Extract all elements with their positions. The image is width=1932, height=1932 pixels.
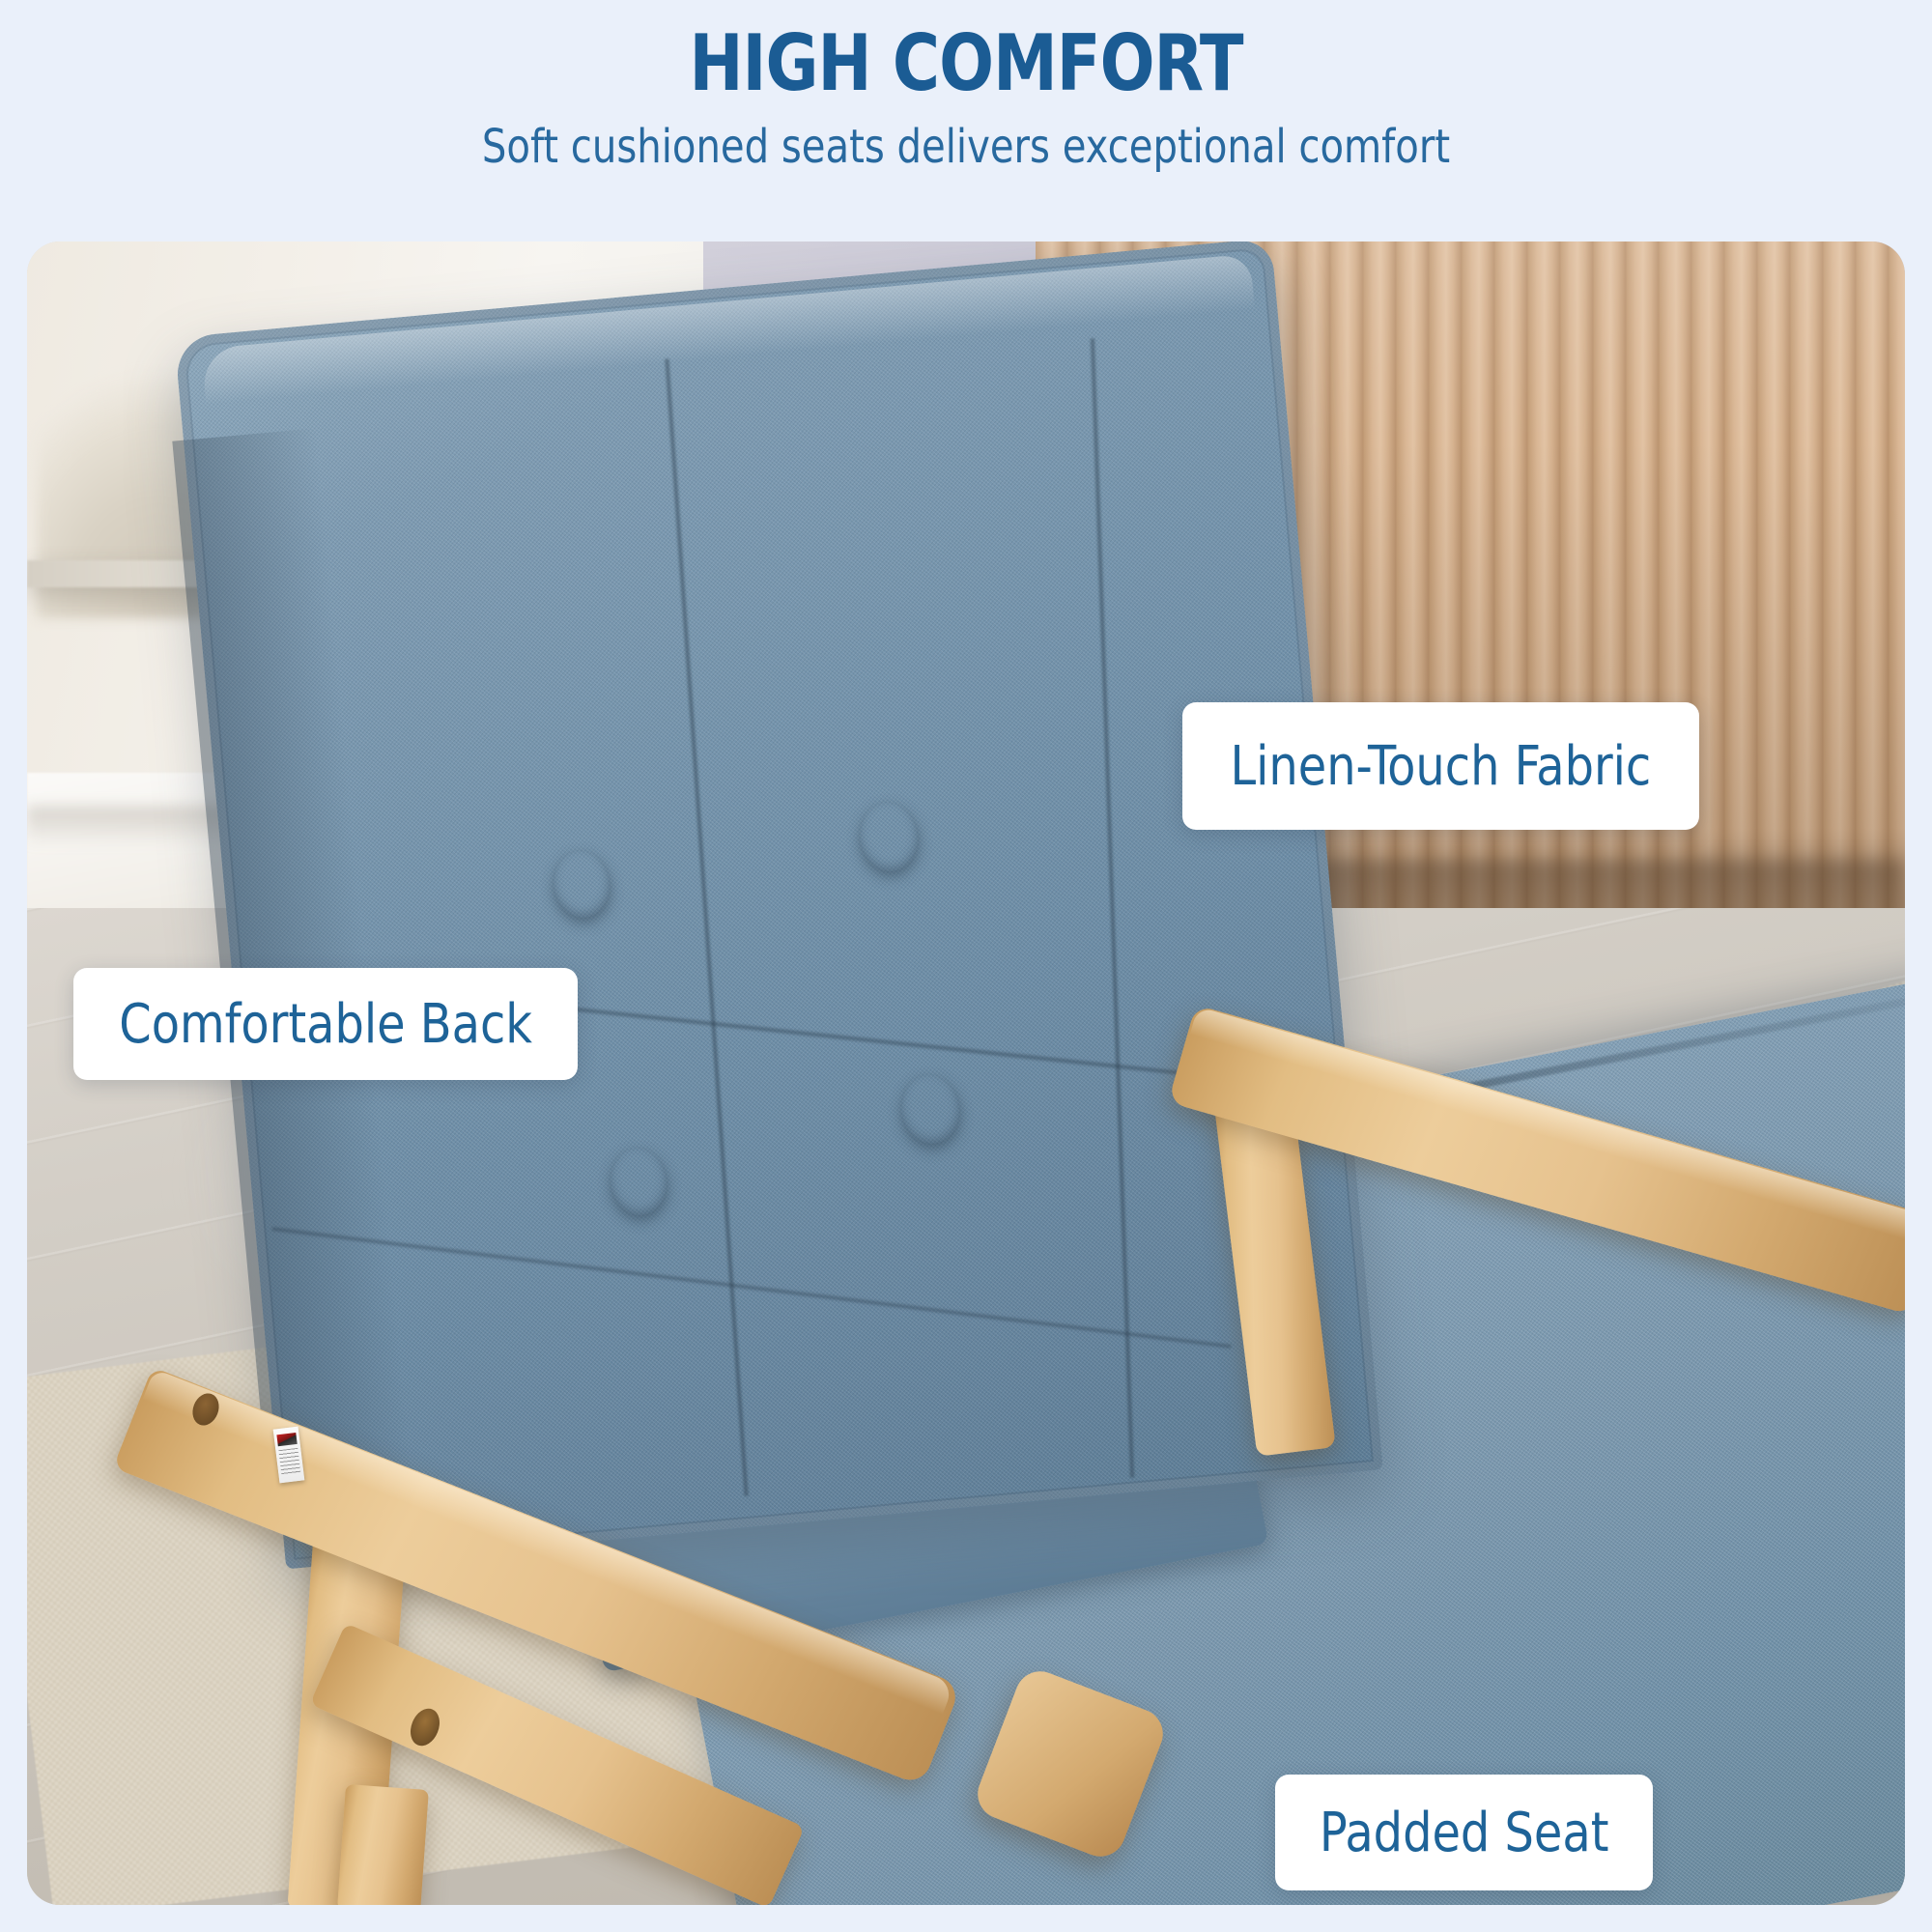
brand-logo-mark xyxy=(276,1433,297,1446)
backrest-piping xyxy=(174,241,1382,1569)
page-title: HIGH COMFORT xyxy=(68,25,1864,102)
callout-label: Linen-Touch Fabric xyxy=(1230,735,1651,798)
callout-comfortable-back[interactable]: Comfortable Back xyxy=(73,968,578,1080)
callout-padded-seat[interactable]: Padded Seat xyxy=(1275,1775,1653,1890)
callout-label: Padded Seat xyxy=(1320,1802,1609,1864)
callout-label: Comfortable Back xyxy=(119,993,532,1056)
header-banner: HIGH COMFORT Soft cushioned seats delive… xyxy=(0,0,1932,241)
chair-leg-lower xyxy=(337,1784,429,1905)
brand-tag-text-lines xyxy=(278,1448,300,1475)
page-subtitle: Soft cushioned seats delivers exceptiona… xyxy=(68,124,1864,170)
product-photo: Linen-Touch Fabric Comfortable Back Padd… xyxy=(27,241,1905,1905)
callout-linen-touch-fabric[interactable]: Linen-Touch Fabric xyxy=(1182,702,1699,830)
